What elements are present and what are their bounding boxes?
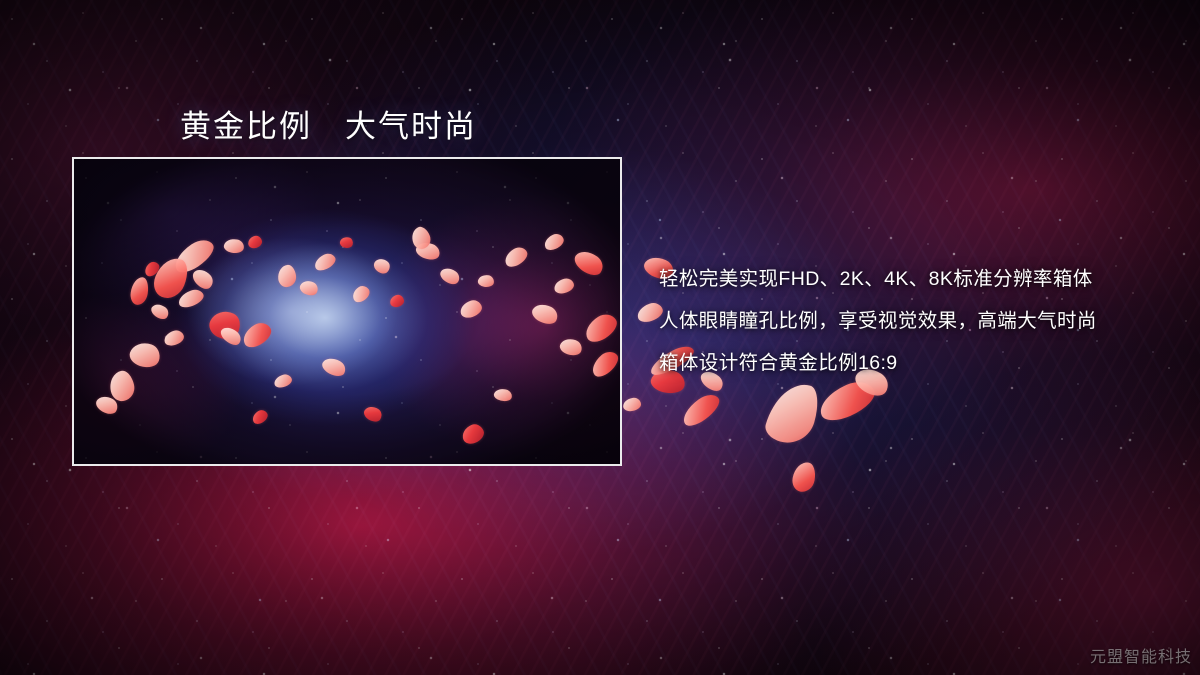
page-title: 黄金比例 大气时尚 xyxy=(180,101,477,146)
petal-decoration xyxy=(622,397,642,412)
petal-decoration xyxy=(678,390,724,431)
framed-image-panel xyxy=(72,157,622,466)
body-line: 箱体设计符合黄金比例16:9 xyxy=(659,342,1189,384)
body-line: 轻松完美实现FHD、2K、4K、8K标准分辨率箱体 xyxy=(659,258,1189,300)
body-line: 人体眼睛瞳孔比例，享受视觉效果，高端大气时尚 xyxy=(659,300,1189,342)
presentation-slide: 黄金比例 大气时尚 轻松完美实现FHD、2K、4K、8K标准分辨率箱体 人体眼睛… xyxy=(0,0,1200,675)
petal-decoration xyxy=(791,460,818,493)
petal-decoration xyxy=(762,377,823,449)
watermark: 元盟智能科技 xyxy=(1090,643,1192,667)
body-text-block: 轻松完美实现FHD、2K、4K、8K标准分辨率箱体 人体眼睛瞳孔比例，享受视觉效… xyxy=(659,258,1189,384)
